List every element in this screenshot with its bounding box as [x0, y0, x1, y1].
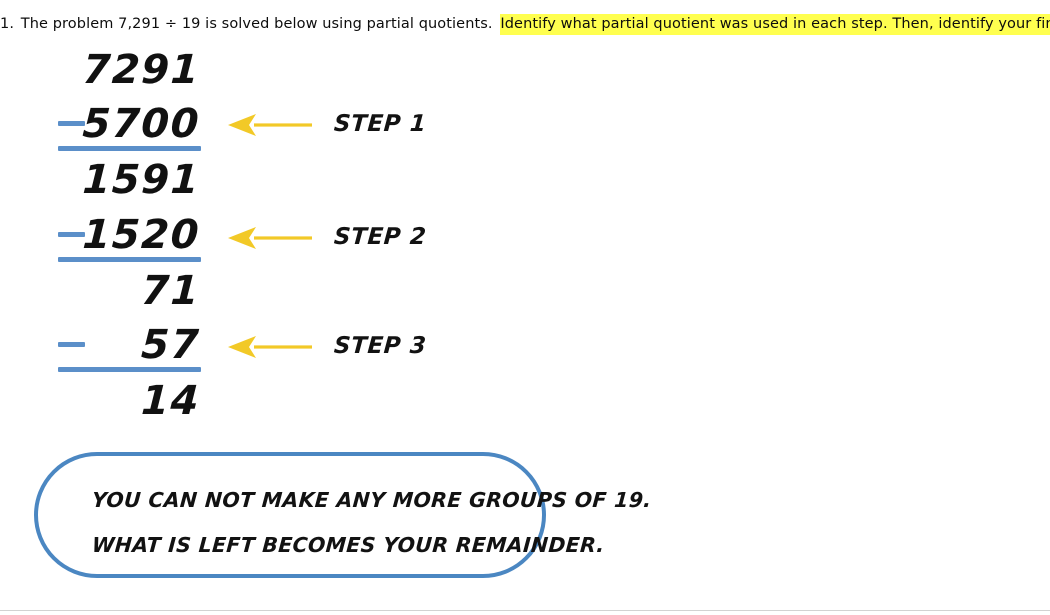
remainder-value: 14	[0, 378, 201, 424]
subtrahend-step-1: 5700	[0, 101, 201, 147]
subtrahend-step-2: 1520	[0, 212, 201, 258]
step-label-3: STEP 3	[333, 333, 427, 359]
remainder-callout-box: YOU CAN NOT MAKE ANY MORE GROUPS OF 19. …	[34, 452, 546, 578]
page-divider	[0, 610, 1050, 611]
rule-step-1	[58, 146, 201, 151]
dividend-value: 7291	[0, 47, 201, 93]
callout-text-line-2: WHAT IS LEFT BECOMES YOUR REMAINDER.	[91, 533, 605, 557]
arrow-left-icon-step-3	[226, 334, 316, 360]
arrow-left-icon-step-2	[226, 225, 316, 251]
difference-step-1: 1591	[0, 157, 201, 203]
arrow-left-icon-step-1	[226, 112, 316, 138]
subtrahend-step-3: 57	[0, 322, 201, 368]
rule-step-3	[58, 367, 201, 372]
rule-step-2	[58, 257, 201, 262]
difference-step-2: 71	[0, 268, 201, 314]
step-label-1: STEP 1	[333, 111, 427, 137]
step-label-2: STEP 2	[333, 224, 427, 250]
callout-text-line-1: YOU CAN NOT MAKE ANY MORE GROUPS OF 19.	[91, 488, 652, 512]
